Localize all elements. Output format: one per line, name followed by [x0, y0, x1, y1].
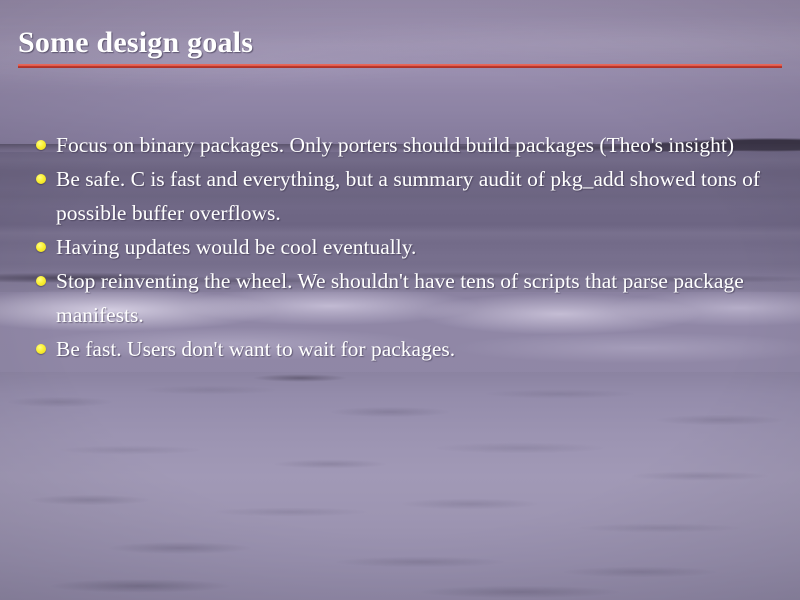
list-item: Be fast. Users don't want to wait for pa…	[34, 332, 774, 366]
slide-content: Some design goals Focus on binary packag…	[0, 0, 800, 600]
bullet-dot-icon	[36, 174, 46, 184]
list-item: Focus on binary packages. Only porters s…	[34, 128, 774, 162]
list-item: Be safe. C is fast and everything, but a…	[34, 162, 774, 230]
slide-title: Some design goals	[18, 26, 253, 60]
list-item-label: Focus on binary packages. Only porters s…	[56, 128, 774, 162]
title-underline-rule	[18, 64, 782, 68]
bullet-dot-icon	[36, 344, 46, 354]
list-item: Stop reinventing the wheel. We shouldn't…	[34, 264, 774, 332]
list-item-label: Be fast. Users don't want to wait for pa…	[56, 332, 774, 366]
presentation-slide: Some design goals Focus on binary packag…	[0, 0, 800, 600]
list-item-label: Stop reinventing the wheel. We shouldn't…	[56, 264, 774, 332]
bullet-dot-icon	[36, 276, 46, 286]
list-item: Having updates would be cool eventually.	[34, 230, 774, 264]
bullet-list: Focus on binary packages. Only porters s…	[34, 128, 774, 366]
bullet-dot-icon	[36, 242, 46, 252]
list-item-label: Having updates would be cool eventually.	[56, 230, 774, 264]
list-item-label: Be safe. C is fast and everything, but a…	[56, 162, 774, 230]
bullet-dot-icon	[36, 140, 46, 150]
